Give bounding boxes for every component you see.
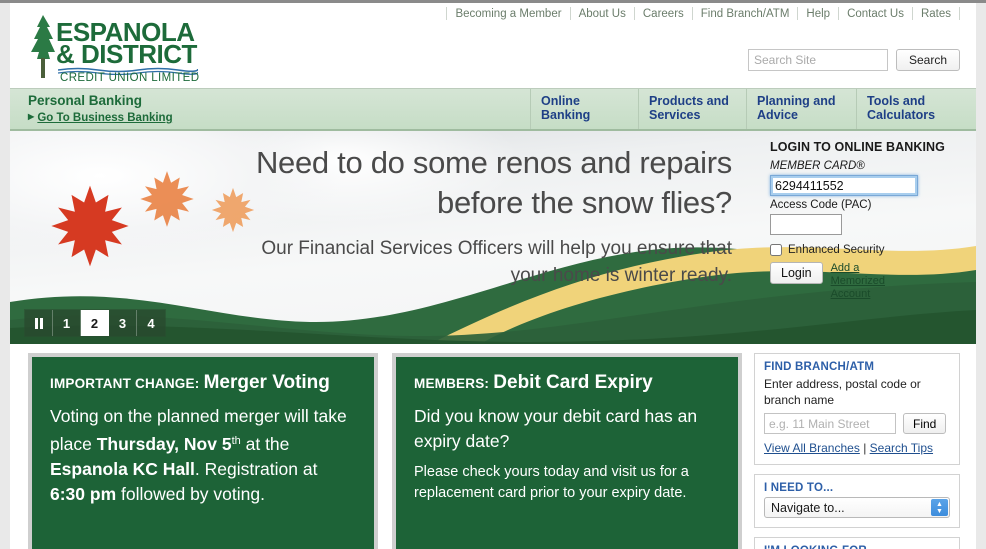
access-code-input[interactable]	[770, 214, 842, 235]
promo-card-kicker: MEMBERS:	[414, 376, 489, 391]
nav-separator	[959, 7, 960, 20]
chevron-updown-icon: ▲▼	[931, 499, 948, 516]
login-button[interactable]: Login	[770, 262, 823, 284]
find-branch-title: FIND BRANCH/ATM	[764, 361, 950, 373]
nav-primary-items: Online Banking Products and Services Pla…	[530, 89, 976, 129]
nav-item-line-2: Calculators	[867, 108, 956, 122]
online-banking-login-panel: LOGIN TO ONLINE BANKING MEMBER CARD® Acc…	[760, 131, 976, 301]
enhanced-security-checkbox[interactable]	[770, 244, 782, 256]
utility-link-find-branch-atm[interactable]: Find Branch/ATM	[693, 8, 798, 20]
nav-item-products-and-services[interactable]: Products and Services	[638, 89, 746, 129]
promo-card-kicker: IMPORTANT CHANGE:	[50, 376, 199, 391]
pause-icon	[35, 318, 43, 329]
promo-card-heading: IMPORTANT CHANGE: Merger Voting	[50, 373, 356, 394]
im-looking-for-title: I'M LOOKING FOR...	[764, 545, 950, 549]
carousel-slide-3-button[interactable]: 3	[109, 310, 137, 336]
carousel-slide-1-button[interactable]: 1	[53, 310, 81, 336]
hero-headline-line-1: Need to do some renos and repairs	[10, 143, 732, 183]
utility-link-rates[interactable]: Rates	[913, 8, 959, 20]
nav-section-title: Personal Banking	[28, 93, 530, 109]
utility-link-contact-us[interactable]: Contact Us	[839, 8, 912, 20]
site-frame: ESPANOLA & DISTRICT CREDIT UNION LIMITED…	[10, 3, 976, 549]
branch-search-input[interactable]	[764, 413, 896, 434]
carousel-controls: 1 2 3 4	[24, 309, 166, 337]
nav-item-line-1: Products and	[649, 94, 736, 108]
hero-subtext-line-2: your home is winter ready.	[10, 262, 732, 289]
enhanced-security-label: Enhanced Security	[788, 244, 885, 256]
enhanced-security-row[interactable]: Enhanced Security	[770, 244, 964, 256]
i-need-to-select[interactable]: Navigate to... ▲▼	[764, 497, 950, 518]
main-nav: Personal Banking ▶ Go To Business Bankin…	[10, 88, 976, 131]
nav-item-line-1: Online Banking	[541, 94, 628, 122]
main-content: IMPORTANT CHANGE: Merger Voting Voting o…	[10, 344, 976, 549]
body-bold-date: Thursday, Nov 5	[97, 434, 232, 454]
nav-item-line-2: Services	[649, 108, 736, 122]
member-card-input[interactable]	[770, 175, 918, 196]
search-button[interactable]: Search	[896, 49, 960, 71]
body-bold-venue: Espanola KC Hall	[50, 459, 195, 479]
hero-headline-line-2: before the snow flies?	[10, 183, 732, 223]
carousel-slide-2-button[interactable]: 2	[81, 310, 109, 336]
carousel-pause-button[interactable]	[25, 310, 53, 336]
promo-card-body: Did you know your debit card has an expi…	[414, 404, 720, 454]
hero-subtext-line-1: Our Financial Services Officers will hel…	[10, 235, 732, 262]
find-branch-description: Enter address, postal code or branch nam…	[764, 376, 950, 408]
nav-item-line-1: Planning and	[757, 94, 846, 108]
body-mid: at the	[241, 434, 290, 454]
promo-cards: IMPORTANT CHANGE: Merger Voting Voting o…	[10, 353, 742, 549]
i-need-to-title: I NEED TO...	[764, 482, 950, 494]
nav-item-line-2: Advice	[757, 108, 846, 122]
promo-card-heading: MEMBERS: Debit Card Expiry	[414, 373, 720, 394]
add-memorized-account-link[interactable]: Add a Memorized Account	[831, 262, 913, 301]
page-root: ESPANOLA & DISTRICT CREDIT UNION LIMITED…	[0, 0, 986, 549]
body-mid-2: . Registration at	[195, 459, 318, 479]
triangle-right-icon: ▶	[28, 112, 34, 121]
im-looking-for-widget: I'M LOOKING FOR... Navigate to... ▲▼	[754, 537, 960, 549]
nav-switch-banking[interactable]: ▶ Go To Business Banking	[28, 109, 530, 126]
hero-copy: Need to do some renos and repairs before…	[10, 143, 750, 289]
logo-line-2: & DISTRICT	[56, 42, 197, 67]
member-card-label: MEMBER CARD®	[770, 159, 964, 174]
nav-item-line-1: Tools and	[867, 94, 956, 108]
body-suffix: followed by voting.	[116, 484, 265, 504]
search-tips-link[interactable]: Search Tips	[870, 441, 933, 455]
promo-card-title: Merger Voting	[204, 372, 330, 393]
link-separator: |	[863, 441, 866, 455]
pine-tree-icon	[28, 14, 58, 78]
login-actions: Login Add a Memorized Account	[770, 262, 964, 301]
access-code-label: Access Code (PAC)	[770, 198, 964, 213]
find-branch-form: Find	[764, 413, 950, 434]
find-branch-button[interactable]: Find	[903, 413, 946, 434]
body-bold-time: 6:30 pm	[50, 484, 116, 504]
carousel-slide-4-button[interactable]: 4	[137, 310, 165, 336]
nav-switch-banking-label[interactable]: Go To Business Banking	[37, 112, 172, 124]
utility-link-becoming-a-member[interactable]: Becoming a Member	[447, 8, 569, 20]
hero-carousel: Need to do some renos and repairs before…	[10, 131, 976, 344]
i-need-to-widget: I NEED TO... Navigate to... ▲▼	[754, 474, 960, 528]
i-need-to-selected-value: Navigate to...	[765, 501, 845, 515]
nav-item-planning-and-advice[interactable]: Planning and Advice	[746, 89, 856, 129]
logo-subtitle: CREDIT UNION LIMITED	[60, 72, 199, 84]
utility-link-about-us[interactable]: About Us	[571, 8, 634, 20]
promo-card-title: Debit Card Expiry	[493, 372, 652, 393]
nav-item-tools-and-calculators[interactable]: Tools and Calculators	[856, 89, 966, 129]
utility-nav: Becoming a Member About Us Careers Find …	[446, 7, 960, 20]
utility-link-careers[interactable]: Careers	[635, 8, 692, 20]
utility-link-help[interactable]: Help	[798, 8, 838, 20]
nav-item-online-banking[interactable]: Online Banking	[530, 89, 638, 129]
site-header: ESPANOLA & DISTRICT CREDIT UNION LIMITED…	[10, 3, 976, 88]
nav-banking-section: Personal Banking ▶ Go To Business Bankin…	[10, 89, 530, 129]
promo-card-note: Please check yours today and visit us fo…	[414, 462, 720, 504]
body-ordinal-suffix: th	[232, 435, 241, 447]
promo-card-debit-card-expiry[interactable]: MEMBERS: Debit Card Expiry Did you know …	[392, 353, 742, 549]
site-logo[interactable]: ESPANOLA & DISTRICT CREDIT UNION LIMITED	[28, 12, 198, 80]
find-branch-links: View All Branches | Search Tips	[764, 441, 950, 455]
search-input[interactable]	[748, 49, 888, 71]
right-sidebar: FIND BRANCH/ATM Enter address, postal co…	[754, 353, 970, 549]
find-branch-widget: FIND BRANCH/ATM Enter address, postal co…	[754, 353, 960, 465]
promo-card-merger-voting[interactable]: IMPORTANT CHANGE: Merger Voting Voting o…	[28, 353, 378, 549]
promo-card-body: Voting on the planned merger will take p…	[50, 404, 356, 507]
view-all-branches-link[interactable]: View All Branches	[764, 441, 860, 455]
site-search: Search	[748, 49, 960, 71]
login-panel-title: LOGIN TO ONLINE BANKING	[770, 140, 964, 154]
